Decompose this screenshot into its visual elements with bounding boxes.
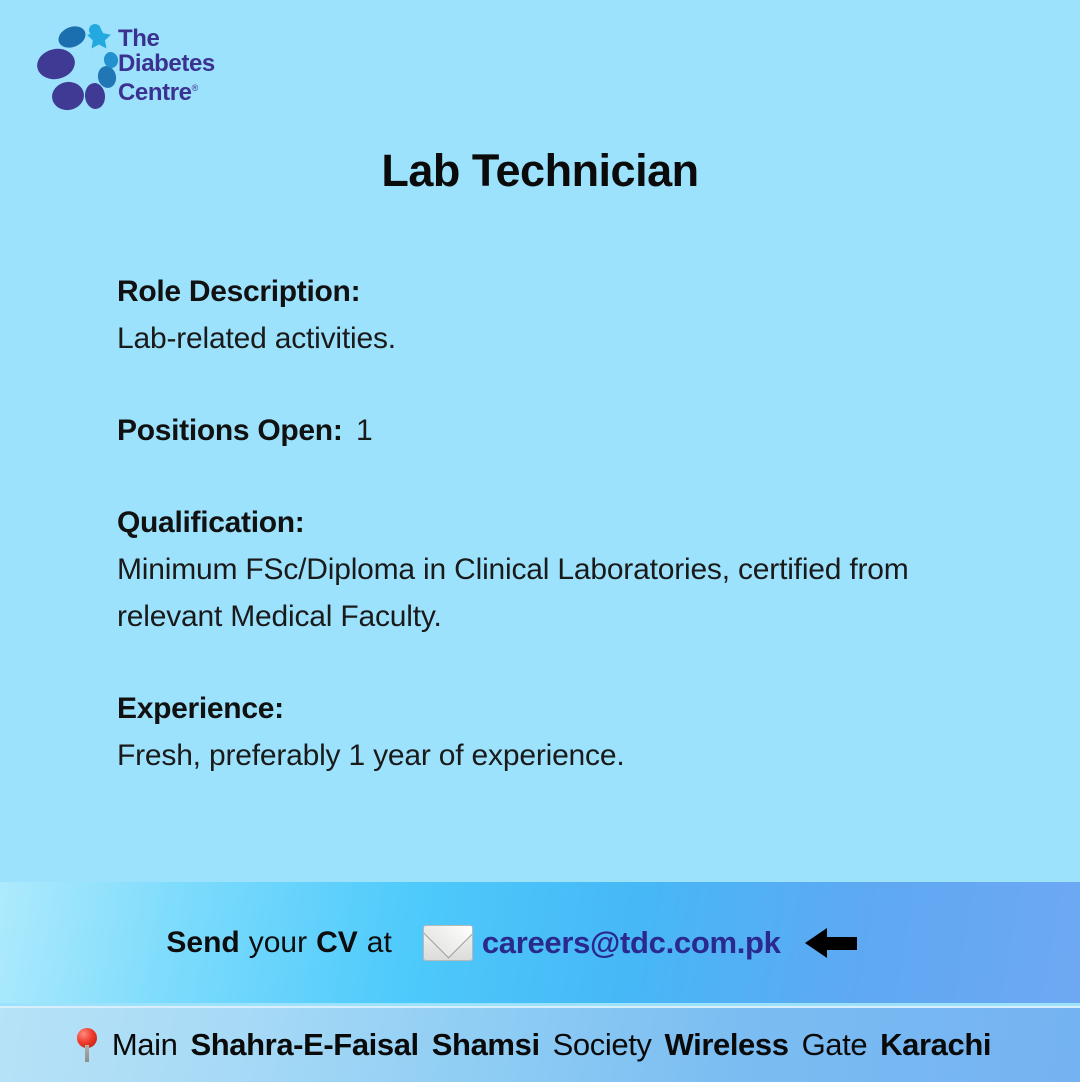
address-token-6: Karachi xyxy=(880,1027,991,1063)
map-pin-icon xyxy=(76,1028,98,1062)
registered-mark: ® xyxy=(192,83,198,93)
send-label: Send xyxy=(166,926,239,960)
at-label: at xyxy=(367,926,392,960)
wordmark-line-1: The xyxy=(118,26,288,51)
experience-heading: Experience: xyxy=(117,685,1017,732)
brand-wordmark: The Diabetes Centre® xyxy=(118,26,288,105)
page-title: Lab Technician xyxy=(0,145,1080,197)
address-token-1: Shahra-E-Faisal xyxy=(190,1027,418,1063)
section-qualification: Qualification: Minimum FSc/Diploma in Cl… xyxy=(117,499,1017,640)
section-role-description: Role Description: Lab-related activities… xyxy=(117,268,1017,362)
experience-body: Fresh, preferably 1 year of experience. xyxy=(117,732,1017,779)
cv-label: CV xyxy=(316,926,358,960)
map-pin-needle xyxy=(85,1045,89,1062)
brand-logo: The Diabetes Centre® xyxy=(36,22,296,118)
section-experience: Experience: Fresh, preferably 1 year of … xyxy=(117,685,1017,779)
positions-open-heading: Positions Open: xyxy=(117,414,343,447)
address-line: MainShahra-E-FaisalShamsiSocietyWireless… xyxy=(76,1027,1004,1063)
send-cv-banner: Send your CV at careers@tdc.com.pk xyxy=(0,882,1080,1003)
your-label: your xyxy=(249,926,307,960)
wordmark-line-2: Diabetes xyxy=(118,51,288,76)
address-token-5: Gate xyxy=(802,1027,868,1063)
section-positions-open: Positions Open: 1 xyxy=(117,407,1017,454)
qualification-heading: Qualification: xyxy=(117,499,1017,546)
positions-open-value: 1 xyxy=(356,414,373,447)
role-description-body: Lab-related activities. xyxy=(117,315,1017,362)
address-token-0: Main xyxy=(112,1027,178,1063)
address-token-2: Shamsi xyxy=(432,1027,540,1063)
qualification-body: Minimum FSc/Diploma in Clinical Laborato… xyxy=(117,546,1017,640)
role-description-heading: Role Description: xyxy=(117,268,1017,315)
send-cv-line: Send your CV at careers@tdc.com.pk xyxy=(166,925,865,961)
wordmark-line-3-text: Centre xyxy=(118,79,192,106)
job-poster: The Diabetes Centre® Lab Technician Role… xyxy=(0,0,1080,1080)
diabetes-centre-logo-icon xyxy=(36,22,122,112)
wordmark-line-3: Centre® xyxy=(118,76,288,105)
address-footer: MainShahra-E-FaisalShamsiSocietyWireless… xyxy=(0,1006,1080,1082)
envelope-icon xyxy=(423,925,473,961)
arrow-left-icon xyxy=(805,928,857,958)
address-token-3: Society xyxy=(553,1027,652,1063)
job-details: Role Description: Lab-related activities… xyxy=(117,268,1017,779)
address-token-4: Wireless xyxy=(665,1027,789,1063)
careers-email-address[interactable]: careers@tdc.com.pk xyxy=(482,925,781,961)
